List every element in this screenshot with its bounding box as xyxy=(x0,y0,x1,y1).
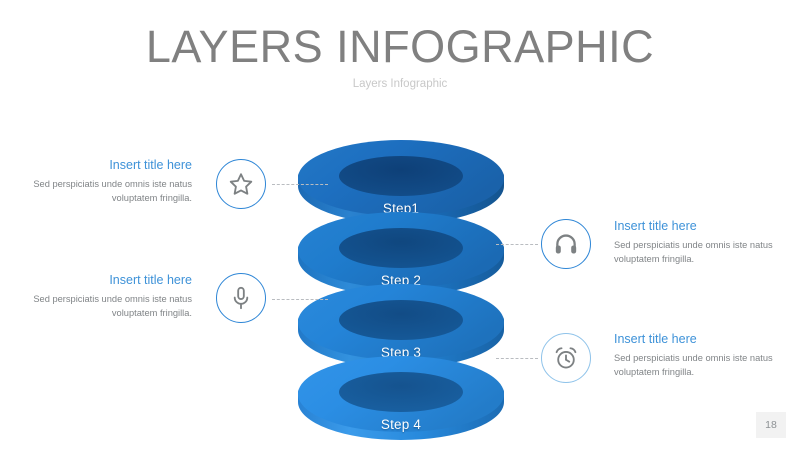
callout-right-2-heading: Insert title here xyxy=(614,332,800,347)
connector-right-1 xyxy=(496,244,538,245)
connector-right-2 xyxy=(496,358,538,359)
callout-left-2-body: Sed perspiciatis unde omnis iste natus v… xyxy=(2,293,192,321)
connector-left-1 xyxy=(272,184,328,185)
callout-right-2: Insert title here Sed perspiciatis unde … xyxy=(614,332,800,380)
layer-stack: Step1 xyxy=(296,140,516,405)
page-title: LAYERS INFOGRAPHIC xyxy=(0,24,800,69)
callout-left-1-heading: Insert title here xyxy=(2,158,192,173)
microphone-icon xyxy=(228,285,254,311)
step-label-4: Step 4 xyxy=(296,417,506,432)
page-number: 18 xyxy=(756,412,786,438)
icon-circle-headphones[interactable] xyxy=(541,219,591,269)
torus-shape-4 xyxy=(296,356,506,452)
icon-circle-star[interactable] xyxy=(216,159,266,209)
alarm-clock-icon xyxy=(553,345,579,371)
callout-left-2-heading: Insert title here xyxy=(2,273,192,288)
headphones-icon xyxy=(553,231,579,257)
layer-ring-4[interactable]: Step 4 xyxy=(296,356,506,452)
callout-left-2: Insert title here Sed perspiciatis unde … xyxy=(2,273,192,321)
callout-right-1-heading: Insert title here xyxy=(614,219,800,234)
star-icon xyxy=(228,171,254,197)
connector-left-2 xyxy=(272,299,328,300)
callout-left-1-body: Sed perspiciatis unde omnis iste natus v… xyxy=(2,178,192,206)
callout-left-1: Insert title here Sed perspiciatis unde … xyxy=(2,158,192,206)
callout-right-2-body: Sed perspiciatis unde omnis iste natus v… xyxy=(614,352,800,380)
page-subtitle: Layers Infographic xyxy=(0,78,800,90)
callout-right-1-body: Sed perspiciatis unde omnis iste natus v… xyxy=(614,239,800,267)
icon-circle-alarm-clock[interactable] xyxy=(541,333,591,383)
icon-circle-microphone[interactable] xyxy=(216,273,266,323)
callout-right-1: Insert title here Sed perspiciatis unde … xyxy=(614,219,800,267)
